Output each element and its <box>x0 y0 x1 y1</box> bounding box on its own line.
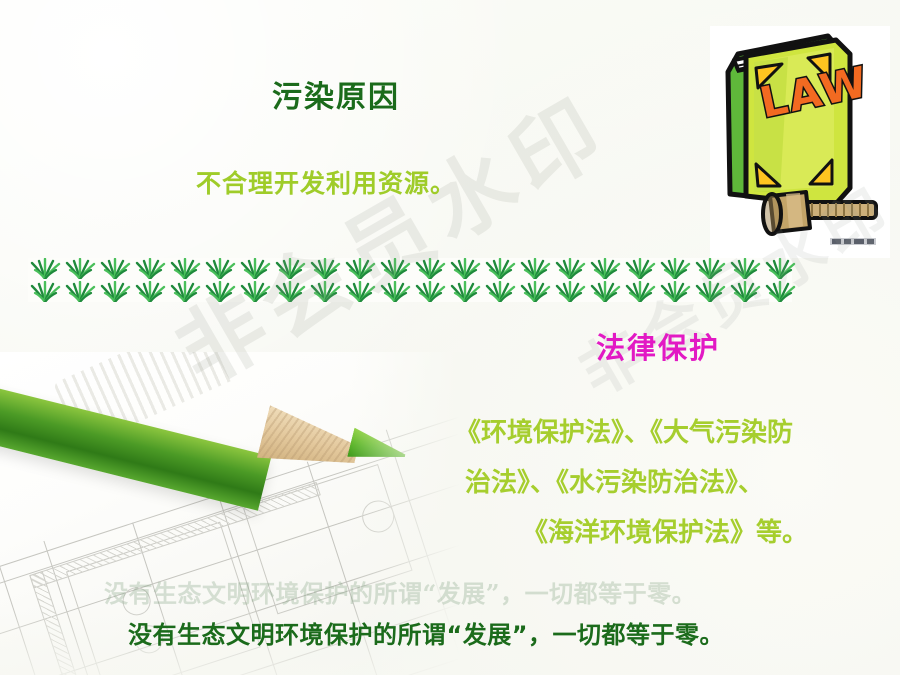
slide-canvas: LAW <box>0 0 900 675</box>
slogan-ghost-text: 没有生态文明环境保护的所谓“发展”，一切都等于零。 <box>104 574 696 609</box>
grass-tuft-icon <box>413 281 448 302</box>
grass-tuft-icon <box>98 258 133 279</box>
grass-tuft-icon <box>518 281 553 302</box>
slogan-text: 没有生态文明环境保护的所谓“发展”，一切都等于零。 <box>128 615 724 650</box>
page-title-pollution-cause: 污染原因 <box>272 72 400 116</box>
grass-tuft-icon <box>308 281 343 302</box>
grass-tuft-icon <box>63 258 98 279</box>
grass-tuft-icon <box>728 258 763 279</box>
section-title-legal-protection: 法律保护 <box>596 325 720 367</box>
grass-tuft-icon <box>448 281 483 302</box>
grass-tuft-icon <box>518 258 553 279</box>
grass-tuft-icon <box>413 258 448 279</box>
grass-tuft-icon <box>378 258 413 279</box>
grass-tuft-icon <box>273 281 308 302</box>
grass-tuft-icon <box>273 258 308 279</box>
grass-tuft-icon <box>168 258 203 279</box>
law-book-image: LAW <box>710 26 890 258</box>
grass-tuft-icon <box>308 258 343 279</box>
grass-tuft-icon <box>378 281 413 302</box>
grass-tuft-icon <box>28 281 63 302</box>
grass-tuft-icon <box>28 258 63 279</box>
law-list-line: 《海洋环境保护法》等。 <box>455 508 875 558</box>
grass-tuft-icon <box>168 281 203 302</box>
grass-tuft-icon <box>553 281 588 302</box>
pollution-cause-body-text: 不合理开发利用资源。 <box>196 164 456 200</box>
law-list-line: 《环境保护法》、《大气污染防 <box>455 408 875 458</box>
grass-divider <box>28 258 792 302</box>
grass-tuft-icon <box>343 281 378 302</box>
grass-tuft-icon <box>238 258 273 279</box>
grass-tuft-icon <box>588 281 623 302</box>
grass-row-top <box>28 258 792 279</box>
grass-tuft-icon <box>63 281 98 302</box>
grass-tuft-icon <box>238 281 273 302</box>
grass-tuft-icon <box>623 258 658 279</box>
grass-tuft-icon <box>98 281 133 302</box>
grass-tuft-icon <box>483 258 518 279</box>
law-book-gavel-illustration: LAW <box>710 26 890 258</box>
grass-tuft-icon <box>693 258 728 279</box>
grass-row-bottom <box>28 281 792 302</box>
grass-tuft-icon <box>763 258 798 279</box>
grass-tuft-icon <box>623 281 658 302</box>
grass-tuft-icon <box>343 258 378 279</box>
grass-tuft-icon <box>763 281 798 302</box>
grass-tuft-icon <box>693 281 728 302</box>
grass-tuft-icon <box>133 258 168 279</box>
grass-tuft-icon <box>553 258 588 279</box>
grass-tuft-icon <box>448 258 483 279</box>
grass-tuft-icon <box>133 281 168 302</box>
grass-tuft-icon <box>588 258 623 279</box>
grass-tuft-icon <box>203 258 238 279</box>
grass-tuft-icon <box>728 281 763 302</box>
grass-tuft-icon <box>203 281 238 302</box>
grass-tuft-icon <box>658 281 693 302</box>
law-list-line: 治法》、《水污染防治法》、 <box>455 458 875 508</box>
law-name-list: 《环境保护法》、《大气污染防 治法》、《水污染防治法》、 《海洋环境保护法》等。 <box>455 408 875 558</box>
grass-tuft-icon <box>483 281 518 302</box>
grass-tuft-icon <box>658 258 693 279</box>
